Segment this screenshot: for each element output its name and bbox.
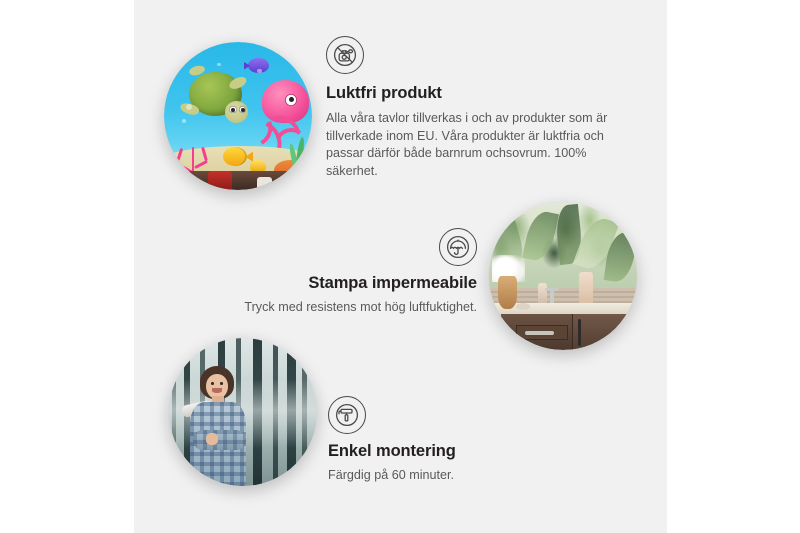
feature-body: Alla våra tavlor tillverkas i och av pro… bbox=[326, 110, 626, 182]
right-margin bbox=[667, 0, 800, 533]
feature-body: Färgdig på 60 minuter. bbox=[328, 467, 608, 485]
feature-title: Luktfri produkt bbox=[326, 83, 626, 104]
paint-roller-icon bbox=[328, 396, 366, 434]
bubble-shape bbox=[182, 119, 186, 123]
infographic-canvas: Luktfri produkt Alla våra tavlor tillver… bbox=[134, 0, 667, 533]
page-root: Luktfri produkt Alla våra tavlor tillver… bbox=[0, 0, 800, 533]
forest-mural-scene bbox=[169, 338, 317, 486]
left-margin bbox=[0, 0, 134, 533]
drawer-handle bbox=[525, 331, 555, 335]
feature-block-montering: Enkel montering Färgdig på 60 minuter. bbox=[328, 396, 608, 485]
woman-smile-shape bbox=[212, 388, 222, 392]
bubble-shape bbox=[217, 63, 221, 67]
woman-hand-shape bbox=[206, 433, 218, 445]
turtle-pupil-shape bbox=[231, 108, 235, 112]
bubble-shape bbox=[257, 69, 261, 73]
no-fragrance-icon bbox=[326, 36, 364, 74]
foreground-object-shape bbox=[257, 177, 272, 190]
feature-block-luktfri: Luktfri produkt Alla våra tavlor tillver… bbox=[326, 36, 626, 181]
door-handle bbox=[578, 319, 582, 346]
feature-title: Stampa impermeabile bbox=[189, 273, 477, 294]
bathroom-leaf-wallpaper-photo bbox=[489, 202, 637, 350]
bathroom-scene bbox=[489, 202, 637, 350]
woman-eye-shape bbox=[220, 382, 223, 384]
woman-paint-roller-forest-photo bbox=[169, 338, 317, 486]
crossed-arms-shape bbox=[193, 430, 246, 451]
underwater-cartoon-photo bbox=[164, 42, 312, 190]
foreground-object-shape bbox=[208, 171, 232, 190]
feature-block-impermeabile: Stampa impermeabile Tryck med resistens … bbox=[189, 228, 477, 317]
vase-shape bbox=[498, 276, 517, 309]
feature-title: Enkel montering bbox=[328, 441, 608, 462]
umbrella-icon bbox=[439, 228, 477, 266]
feature-body: Tryck med resistens mot hög luftfuktighe… bbox=[189, 299, 477, 317]
underwater-illustration bbox=[164, 42, 312, 190]
sea-floor-dark bbox=[164, 171, 312, 190]
turtle-pupil-shape bbox=[241, 108, 245, 112]
